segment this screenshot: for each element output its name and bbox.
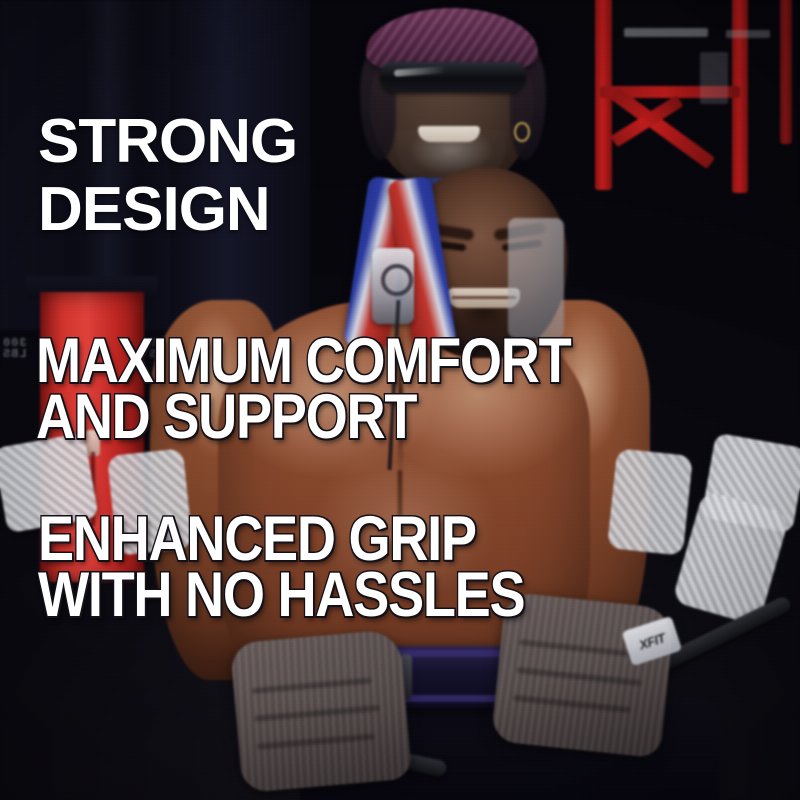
promo-image: 300 LBS 300 LBS	[0, 0, 800, 800]
headline-strong-design-line-2: DESIGN	[38, 178, 270, 242]
headline-strong-design-line-1: STRONG	[38, 110, 297, 174]
headline-overlay: STRONG DESIGN MAXIMUM COMFORT AND SUPPOR…	[0, 0, 800, 800]
headline-enhanced-grip-line-2: WITH NO HASSLES	[38, 566, 524, 624]
headline-maximum-comfort-line-2: AND SUPPORT	[36, 388, 416, 446]
